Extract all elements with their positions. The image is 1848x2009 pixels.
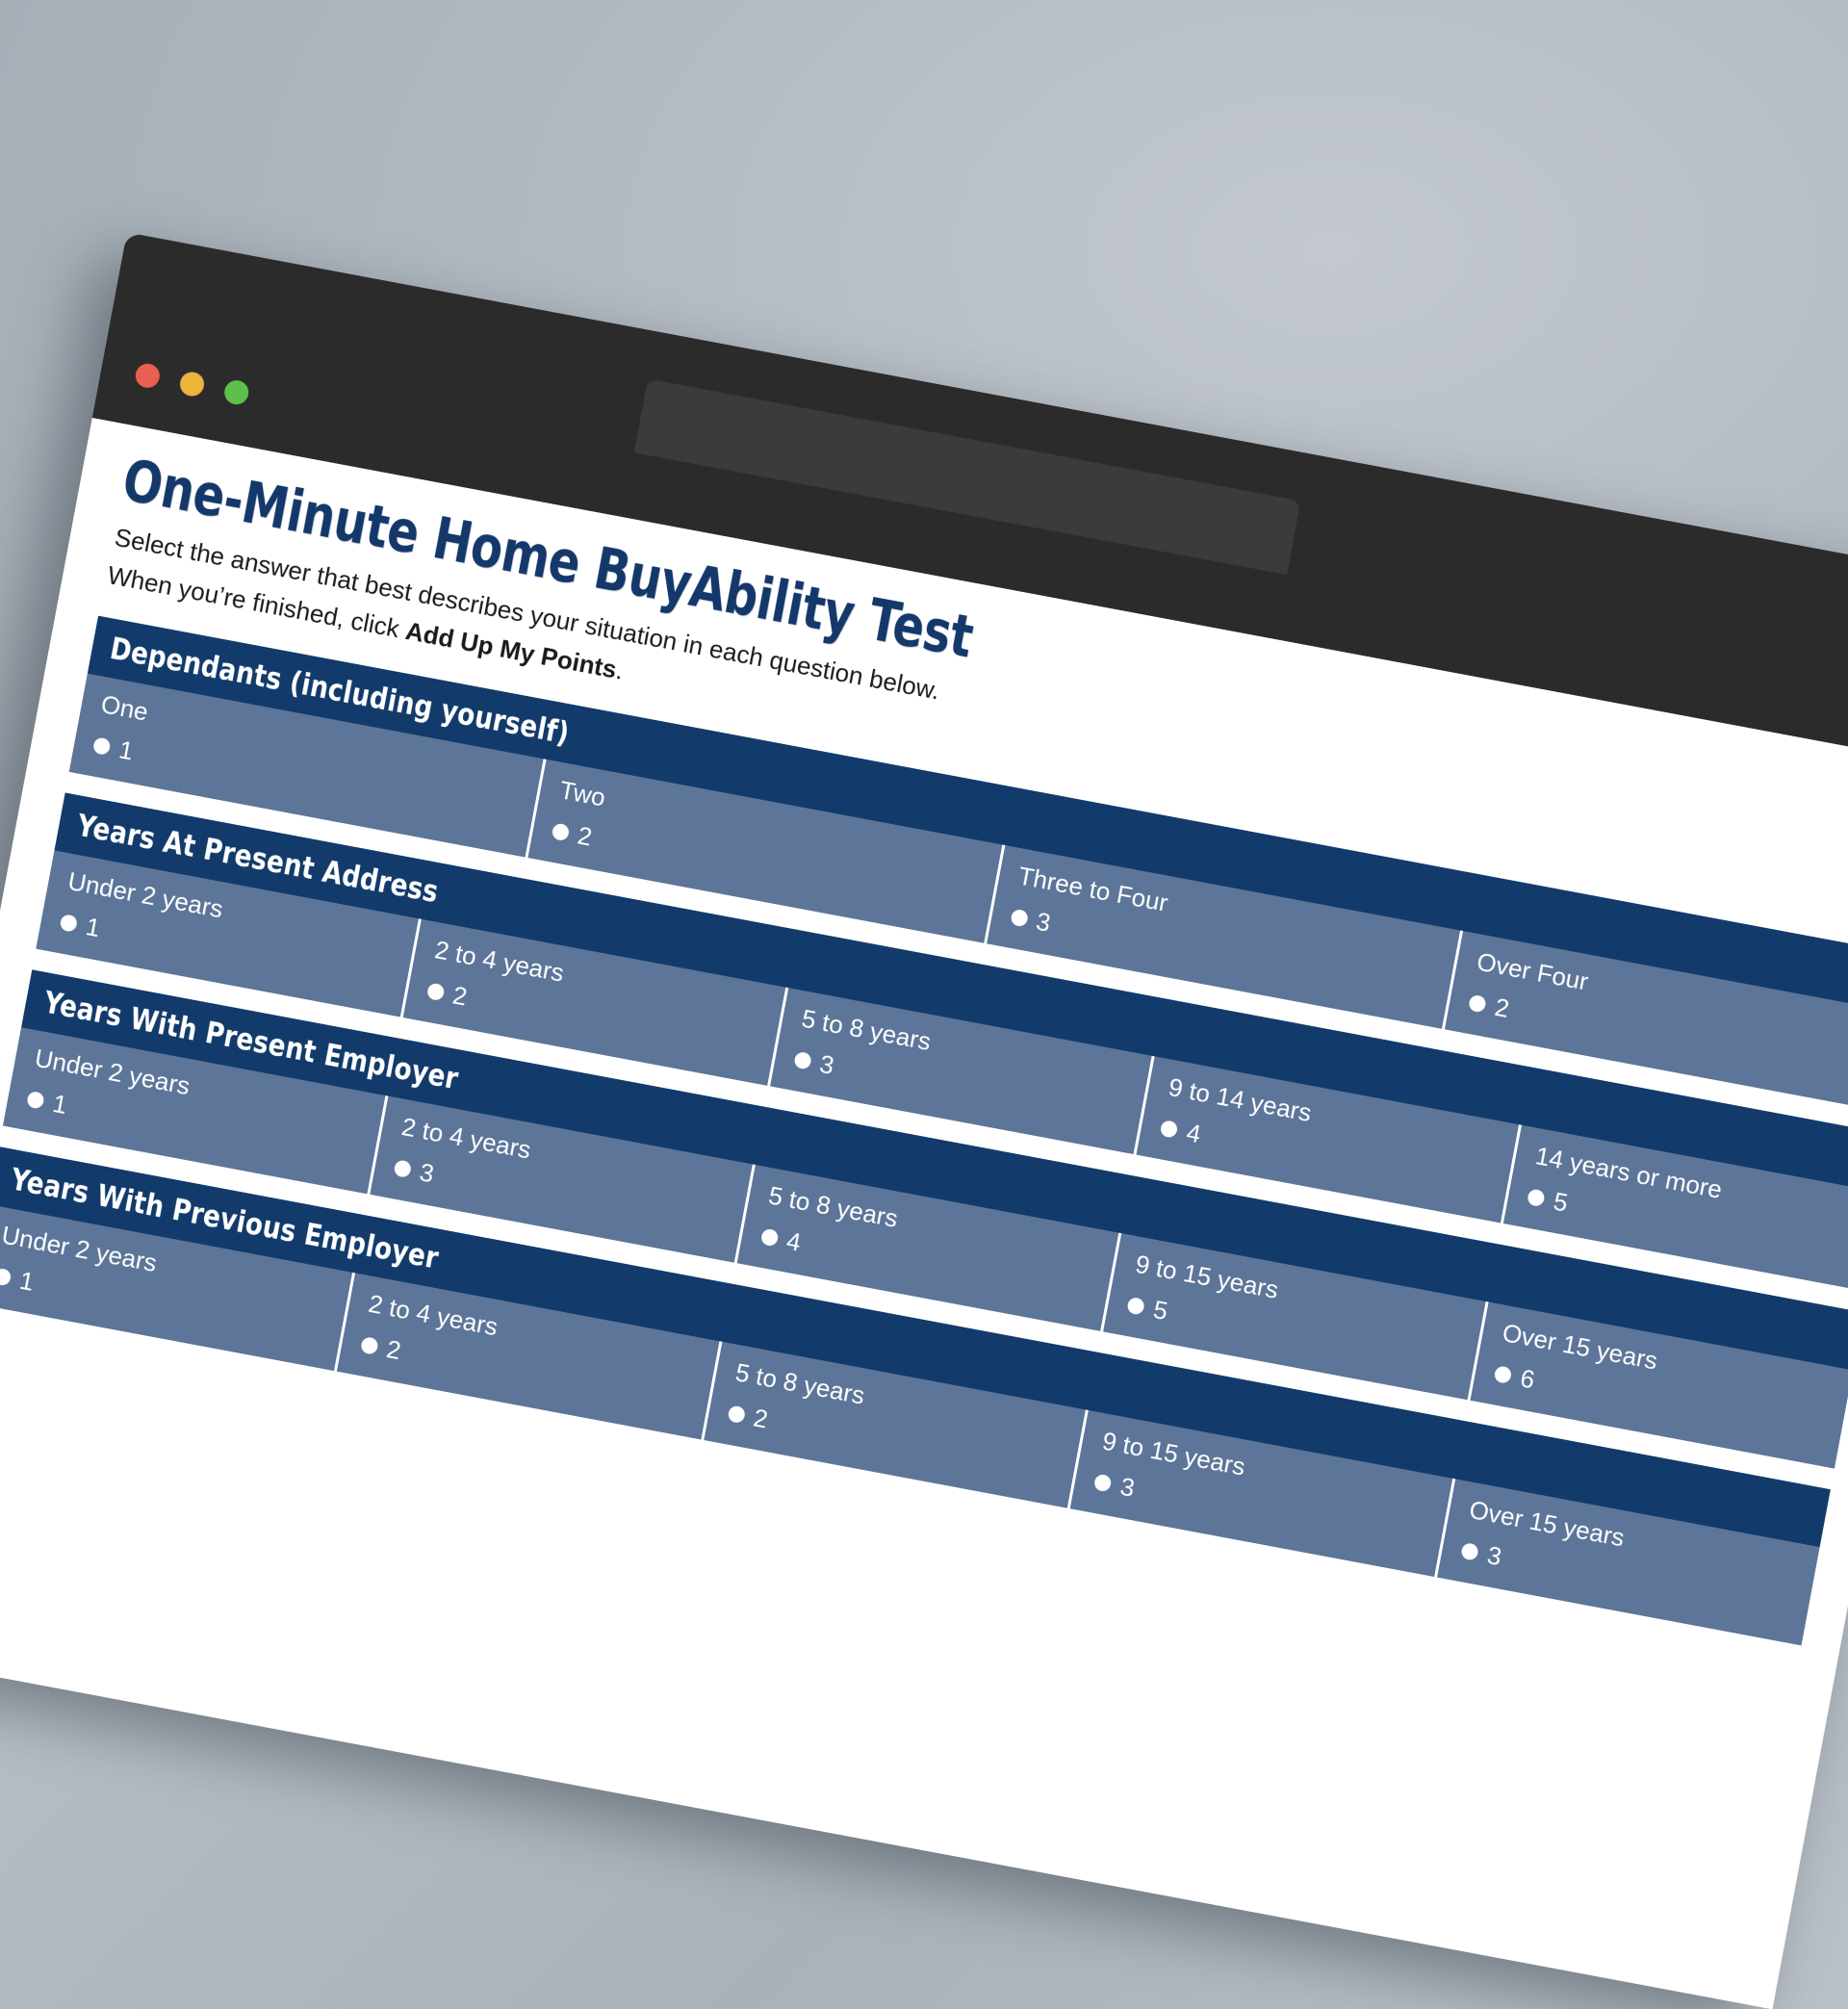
- answer-points: 6: [1518, 1364, 1537, 1396]
- answer-points: 1: [17, 1266, 37, 1298]
- radio-button-icon[interactable]: [759, 1228, 779, 1248]
- answer-points: 2: [751, 1404, 770, 1435]
- answer-points: 1: [50, 1089, 69, 1120]
- radio-button-icon[interactable]: [59, 914, 78, 933]
- answer-points: 2: [384, 1334, 403, 1366]
- radio-button-icon[interactable]: [1468, 994, 1487, 1014]
- answer-points: 5: [1551, 1187, 1570, 1219]
- radio-button-icon[interactable]: [1010, 909, 1029, 928]
- answer-points: 4: [784, 1226, 804, 1258]
- traffic-lights: [134, 362, 251, 406]
- answer-points: 3: [1034, 907, 1053, 939]
- radio-button-icon[interactable]: [92, 737, 112, 757]
- radio-button-icon[interactable]: [727, 1405, 746, 1425]
- radio-button-icon[interactable]: [393, 1159, 412, 1178]
- radio-button-icon[interactable]: [1527, 1189, 1546, 1208]
- radio-button-icon[interactable]: [1160, 1120, 1179, 1139]
- close-icon[interactable]: [134, 362, 162, 390]
- radio-button-icon[interactable]: [426, 983, 446, 1002]
- radio-button-icon[interactable]: [1494, 1365, 1513, 1384]
- answer-points: 3: [417, 1158, 436, 1190]
- answer-points: 5: [1151, 1295, 1170, 1326]
- radio-button-icon[interactable]: [1460, 1542, 1479, 1561]
- answer-points: 1: [116, 735, 136, 767]
- maximize-icon[interactable]: [222, 378, 250, 406]
- radio-button-icon[interactable]: [551, 823, 570, 842]
- radio-button-icon[interactable]: [360, 1336, 379, 1355]
- answer-points: 3: [1485, 1540, 1504, 1572]
- radio-button-icon[interactable]: [1093, 1474, 1113, 1493]
- answer-points: 3: [817, 1049, 836, 1081]
- radio-button-icon[interactable]: [26, 1091, 45, 1110]
- answer-points: 1: [84, 912, 103, 943]
- answer-points: 4: [1184, 1118, 1203, 1149]
- answer-points: 3: [1117, 1472, 1137, 1504]
- radio-button-icon[interactable]: [0, 1268, 12, 1287]
- radio-button-icon[interactable]: [793, 1051, 812, 1070]
- minimize-icon[interactable]: [178, 370, 206, 398]
- radio-button-icon[interactable]: [1126, 1297, 1145, 1316]
- answer-points: 2: [575, 821, 594, 853]
- answer-points: 2: [450, 981, 470, 1013]
- answer-points: 2: [1492, 992, 1511, 1024]
